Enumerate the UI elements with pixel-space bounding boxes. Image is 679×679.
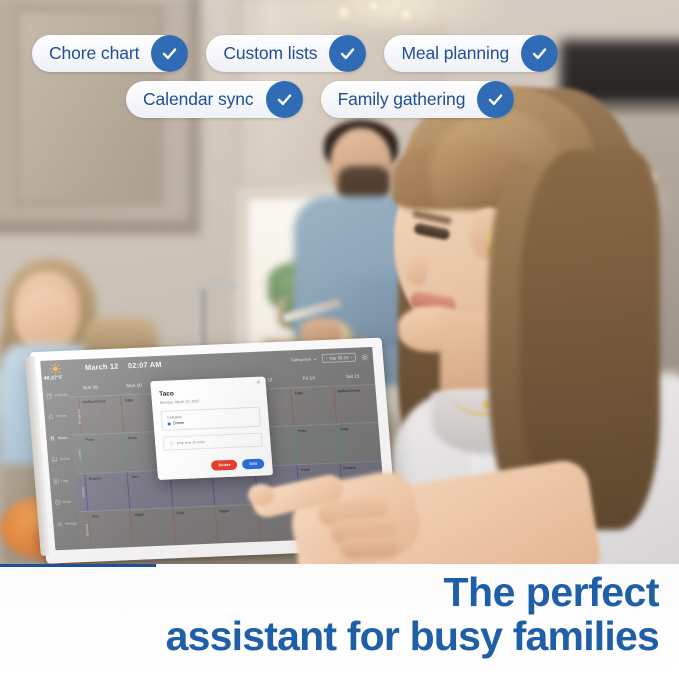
headline: The perfect assistant for busy families xyxy=(19,571,659,659)
feature-pill-family-gathering: Family gathering xyxy=(321,81,515,118)
sidebar-label: Chores xyxy=(56,414,67,418)
sidebar-label: Settings xyxy=(65,521,78,526)
meal-cell[interactable]: Waffles/Cereal xyxy=(78,396,123,435)
meal-text: Soup xyxy=(340,427,349,431)
feature-pill-row-1: Chore chart Custom lists Meal planning xyxy=(0,0,679,72)
header-date: March 12 xyxy=(85,362,119,372)
blue-accent-rule xyxy=(0,564,156,567)
category-section: Category Dinner xyxy=(161,406,262,431)
meal-text: Eggs xyxy=(125,398,133,402)
dialog-subtitle: Monday, March 10, 2025 xyxy=(160,396,259,404)
day-number: 14 xyxy=(309,375,315,380)
sun-icon xyxy=(49,363,61,374)
delete-button[interactable]: Delete xyxy=(211,460,238,471)
finger-4 xyxy=(340,535,401,559)
meal-text: Yogurt xyxy=(219,509,229,513)
pill-label: Chore chart xyxy=(49,43,153,64)
meal-cell[interactable]: Soup xyxy=(336,423,381,462)
check-icon xyxy=(151,35,188,72)
header-time: 02:07 AM xyxy=(128,360,162,370)
meal-text: Burgers xyxy=(343,465,356,470)
day-number: 13 xyxy=(267,377,273,382)
star-icon xyxy=(47,413,54,420)
row-label: Dinner xyxy=(81,487,86,498)
category-color-dot xyxy=(168,422,171,425)
index-fingertip xyxy=(248,484,274,506)
gear-icon xyxy=(56,520,63,527)
pill-label: Family gathering xyxy=(338,89,480,110)
meal-cell[interactable]: Yogurt xyxy=(215,505,260,544)
meal-text: Eggs xyxy=(295,391,303,395)
woman-nose xyxy=(406,252,428,286)
header-controls: Categories ‹ Mar 09-15 › xyxy=(290,352,369,364)
gear-icon[interactable] xyxy=(361,353,370,361)
feature-pills: Chore chart Custom lists Meal planning C… xyxy=(0,0,679,118)
date-range-label: Mar 09-15 xyxy=(329,355,348,361)
day-number: 15 xyxy=(354,374,360,379)
sidebar-label: Lists xyxy=(61,478,68,482)
check-icon xyxy=(266,81,303,118)
sidebar-label: Photos xyxy=(60,457,71,461)
meal-text: Taco xyxy=(131,474,139,478)
meal-text: Burgers xyxy=(89,476,102,481)
date-range-selector[interactable]: ‹ Mar 09-15 › xyxy=(321,353,356,363)
meal-text: Fruit xyxy=(92,514,99,518)
meal-cell[interactable]: Fruit xyxy=(172,506,217,545)
dialog-actions: Delete Edit xyxy=(211,459,264,471)
categories-dropdown[interactable]: Categories xyxy=(290,356,317,362)
meal-text: Waffles/Cereal xyxy=(337,389,360,394)
meal-cell[interactable]: Fruit xyxy=(87,510,132,549)
meal-text: Pizza xyxy=(86,438,95,442)
check-icon xyxy=(521,35,558,72)
categories-label: Categories xyxy=(290,357,311,363)
calendar-icon xyxy=(46,392,53,399)
sidebar-item-chores[interactable]: Chores xyxy=(44,405,72,428)
day-number: 09 xyxy=(92,384,98,389)
meal-text: Fruit xyxy=(177,511,184,515)
day-name: Mon xyxy=(126,383,135,388)
girl-face xyxy=(18,286,74,352)
meal-text: Pizza xyxy=(128,436,137,440)
headline-line-1: The perfect xyxy=(19,571,659,615)
prep-time-field[interactable]: prep time 25 mins xyxy=(163,433,263,451)
chevron-down-icon xyxy=(313,357,317,361)
meal-cell[interactable]: Pizza xyxy=(293,425,338,464)
feature-pill-custom-lists: Custom lists xyxy=(206,35,366,72)
feature-pill-meal-planning: Meal planning xyxy=(384,35,558,72)
category-value-row: Dinner xyxy=(167,418,254,426)
sidebar-item-calendar[interactable]: Calendar xyxy=(42,384,70,407)
feature-pill-row-2: Calendar sync Family gathering xyxy=(0,72,679,118)
next-week-button[interactable]: › xyxy=(350,355,352,360)
pill-label: Calendar sync xyxy=(143,89,268,110)
day-name: Sun xyxy=(83,385,92,390)
clock-icon xyxy=(169,441,174,446)
edit-button[interactable]: Edit xyxy=(242,459,264,470)
pill-label: Custom lists xyxy=(223,43,331,64)
meal-text: Pizza xyxy=(298,429,307,433)
sidebar-item-lists[interactable]: Lists xyxy=(49,469,77,492)
sidebar-item-more[interactable]: More xyxy=(51,491,79,514)
close-icon[interactable]: ✕ xyxy=(256,380,261,386)
day-number: 10 xyxy=(136,383,142,388)
photo-icon xyxy=(51,456,58,463)
sidebar-label: Calendar xyxy=(54,392,68,397)
sidebar-label: Meals xyxy=(58,436,68,440)
meal-cell[interactable]: Eggs xyxy=(290,387,335,426)
list-icon xyxy=(53,478,60,485)
meal-cell[interactable]: Waffles/Cereal xyxy=(333,385,378,424)
meal-detail-dialog: ✕ Taco Monday, March 10, 2025 Category D… xyxy=(150,376,273,480)
sidebar-item-photos[interactable]: Photos xyxy=(47,448,75,471)
meal-text: Pasta xyxy=(301,467,310,471)
feature-pill-chore-chart: Chore chart xyxy=(32,35,188,72)
category-value: Dinner xyxy=(173,421,185,425)
prep-time-text: prep time 25 mins xyxy=(177,440,205,445)
feature-pill-calendar-sync: Calendar sync xyxy=(126,81,303,118)
temperature-readout: 48.27°F xyxy=(43,375,62,382)
meal-cell[interactable]: Pizza xyxy=(81,434,126,473)
sidebar-label: More xyxy=(63,500,71,504)
meal-cell[interactable]: Burgers xyxy=(84,472,129,511)
plus-icon xyxy=(54,499,61,506)
meals-icon xyxy=(49,435,56,442)
check-icon xyxy=(477,81,514,118)
headline-line-2: assistant for busy families xyxy=(19,615,659,659)
meal-text: Waffles/Cereal xyxy=(83,399,106,404)
sidebar-item-settings[interactable]: Settings xyxy=(52,512,80,535)
pill-label: Meal planning xyxy=(401,43,523,64)
sidebar-item-meals[interactable]: Meals xyxy=(46,427,74,450)
meal-cell[interactable]: Yogurt xyxy=(130,508,175,547)
meal-text: Yogurt xyxy=(134,512,144,516)
day-name: Fri xyxy=(303,376,309,381)
row-label: Lunch xyxy=(77,449,82,459)
day-name: Sat xyxy=(346,374,353,379)
check-icon xyxy=(329,35,366,72)
prev-week-button[interactable]: ‹ xyxy=(326,356,328,361)
